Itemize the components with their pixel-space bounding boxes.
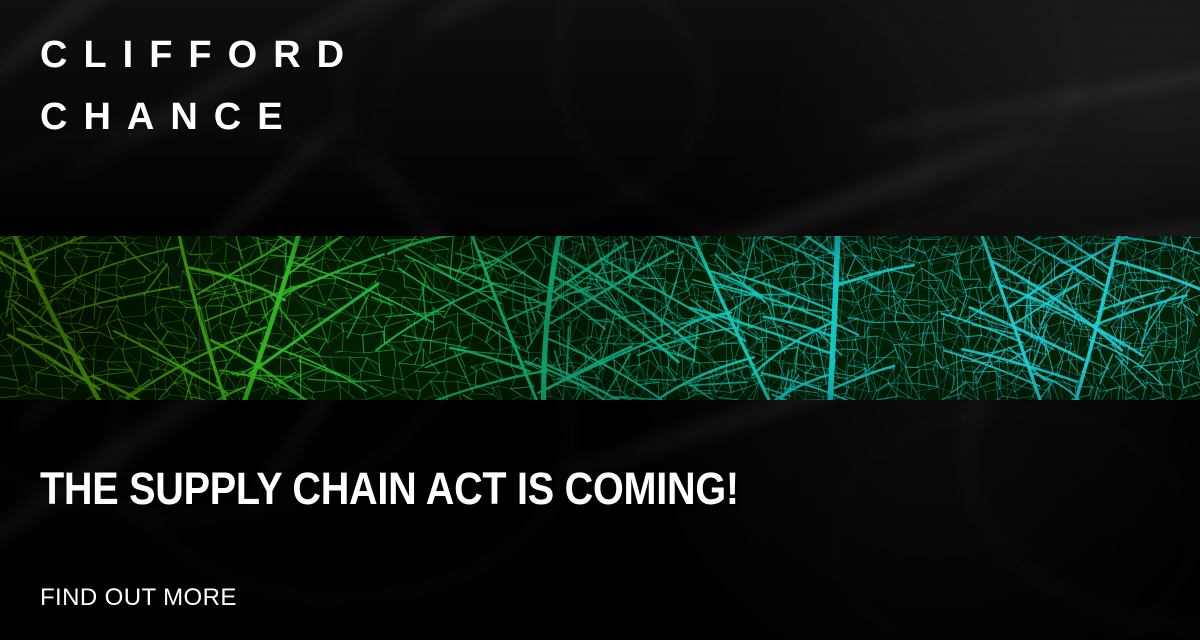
band-color-tint xyxy=(0,236,1200,400)
find-out-more-link[interactable]: FIND OUT MORE xyxy=(40,586,237,610)
clifford-chance-logo[interactable]: CLIFFORD CHANCE xyxy=(40,24,360,148)
headline: THE SUPPLY CHAIN ACT IS COMING! xyxy=(40,466,739,511)
logo-line-chance: CHANCE xyxy=(40,86,360,148)
logo-line-clifford: CLIFFORD xyxy=(40,24,360,86)
leaf-vein-band xyxy=(0,236,1200,400)
advertisement-banner: CLIFFORD CHANCE THE SUPPLY CHAIN ACT IS … xyxy=(0,0,1200,640)
